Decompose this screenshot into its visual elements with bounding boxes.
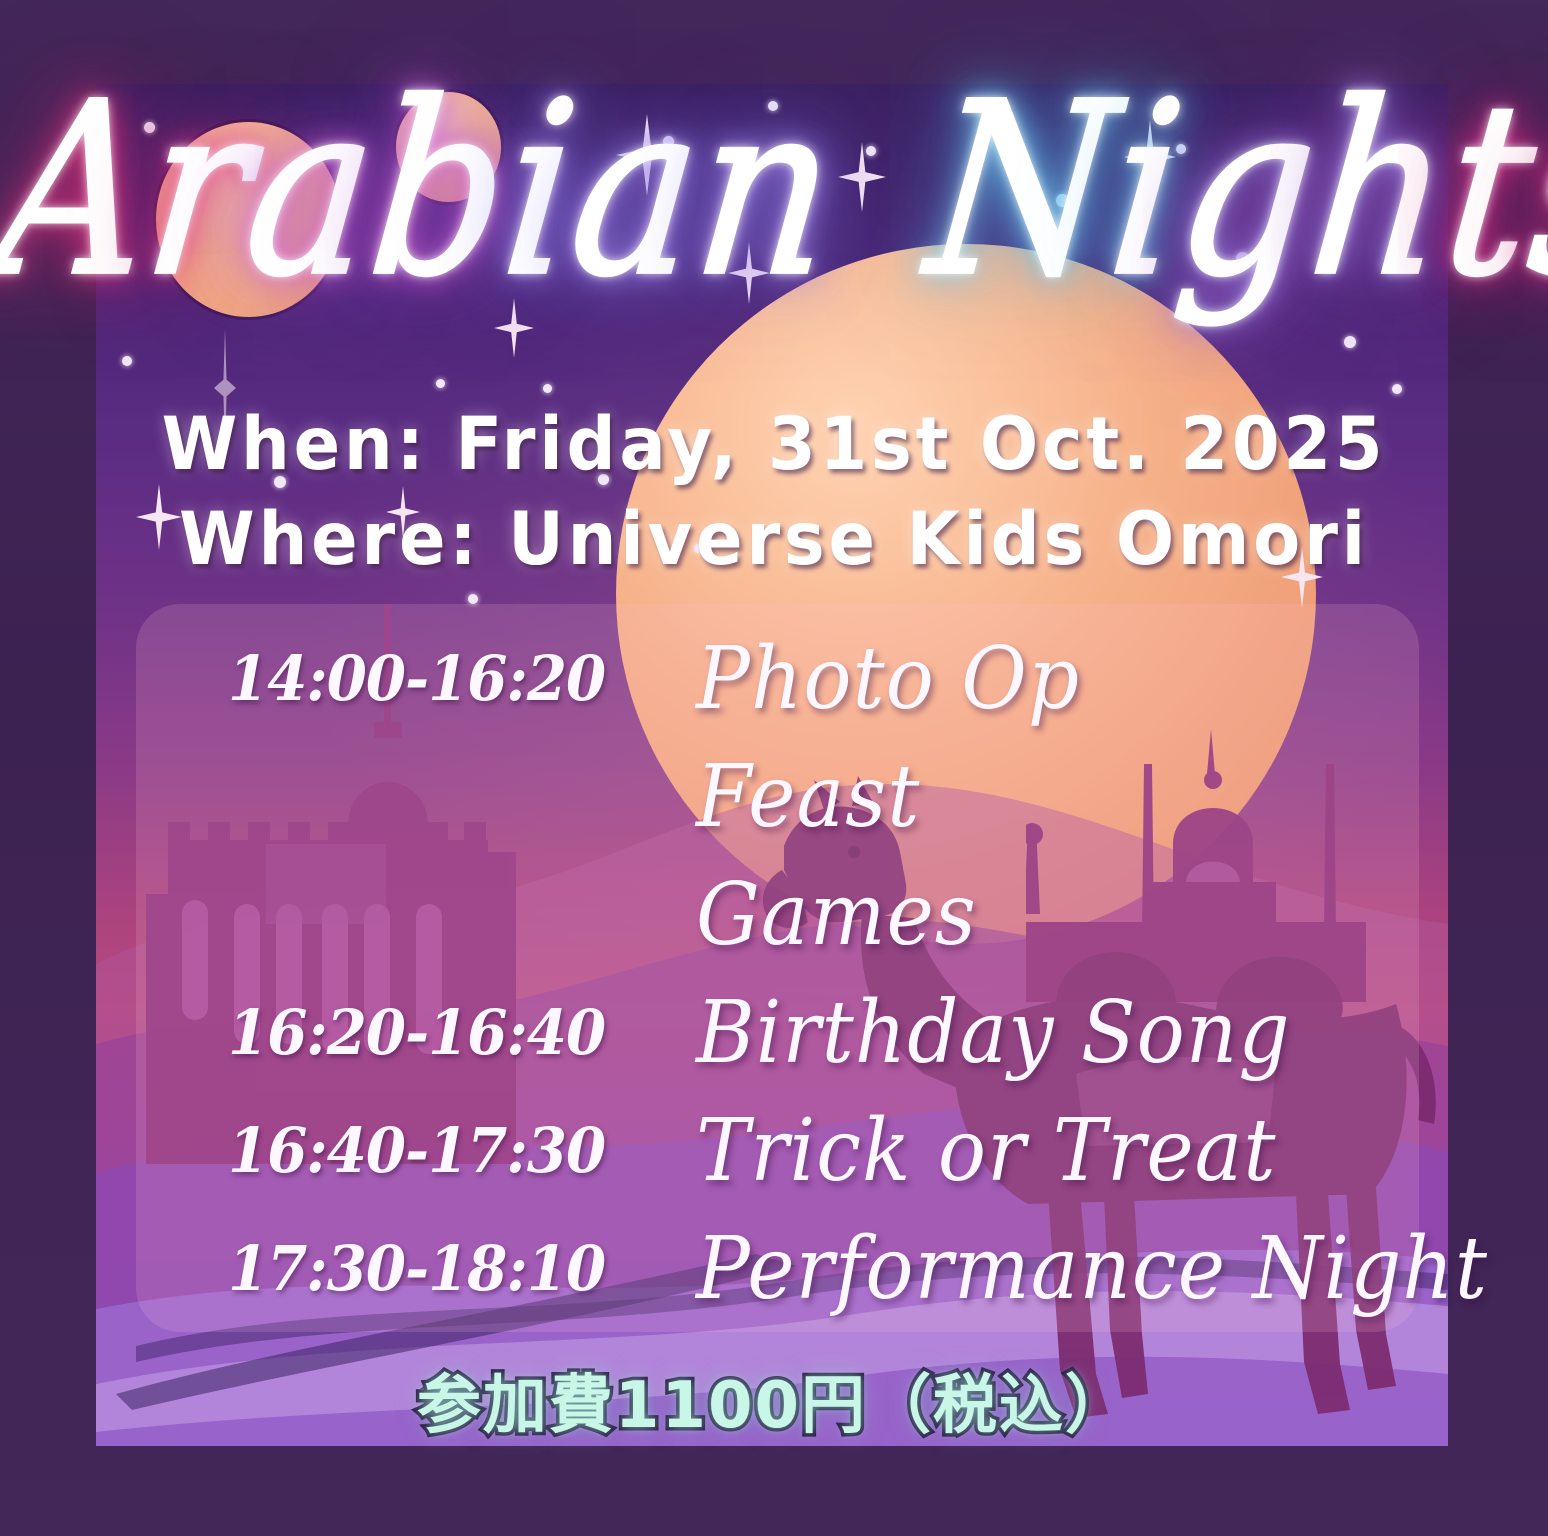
poster-root: Arabian Nights When: Friday, 31st Oct. 2…	[0, 0, 1548, 1536]
schedule-row: Feast	[136, 760, 1419, 878]
price-line: 参加費1100円（税込）	[0, 1354, 1548, 1446]
event-where-line: Where: Universe Kids Omori	[46, 493, 1501, 588]
schedule-activity: Birthday Song	[696, 982, 1291, 1082]
price-text: 参加費1100円（税込）	[417, 1369, 1131, 1443]
schedule-row: 16:20-16:40 Birthday Song	[136, 996, 1419, 1114]
schedule-time: 16:20-16:40	[228, 996, 619, 1069]
schedule-list: 14:00-16:20 Photo Op Feast Games 16:20-1…	[136, 604, 1419, 1332]
schedule-row: 17:30-18:10 Performance Night	[136, 1232, 1419, 1350]
event-when-line: When: Friday, 31st Oct. 2025	[46, 398, 1501, 493]
schedule-activity: Games	[696, 864, 977, 964]
schedule-row: 14:00-16:20 Photo Op	[136, 642, 1419, 760]
event-info-block: When: Friday, 31st Oct. 2025 Where: Univ…	[0, 398, 1548, 588]
schedule-row: 16:40-17:30 Trick or Treat	[136, 1114, 1419, 1232]
schedule-row: Games	[136, 878, 1419, 996]
schedule-time: 14:00-16:20	[228, 642, 619, 715]
schedule-activity: Trick or Treat	[696, 1100, 1277, 1200]
schedule-activity: Photo Op	[696, 628, 1080, 728]
schedule-time: 16:40-17:30	[228, 1114, 619, 1187]
schedule-activity: Feast	[696, 746, 920, 846]
schedule-activity: Performance Night	[696, 1218, 1488, 1318]
schedule-time: 17:30-18:10	[228, 1232, 619, 1305]
